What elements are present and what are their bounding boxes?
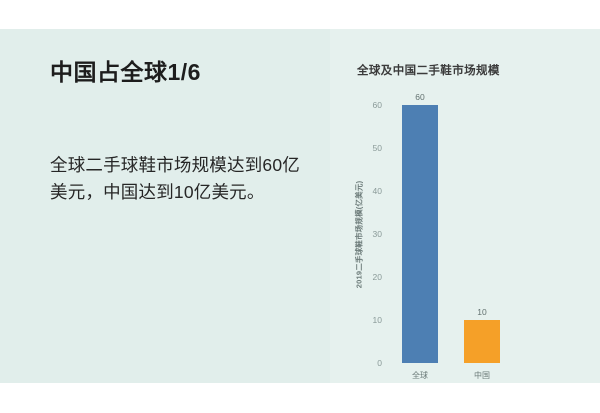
bar-value-global: 60	[415, 92, 424, 102]
y-axis-title: 2019二手球鞋市场规模(亿美元)	[352, 105, 366, 363]
y-tick-20: 20	[373, 272, 382, 282]
y-tick-40: 40	[373, 186, 382, 196]
x-tick-china: 中国	[474, 370, 490, 381]
chart-panel: 全球及中国二手鞋市场规模 2019二手球鞋市场规模(亿美元) 0 10 20 3…	[330, 29, 600, 383]
y-tick-10: 10	[373, 315, 382, 325]
bar-china[interactable]: 10 中国	[464, 320, 500, 363]
plot-area: 0 10 20 30 40 50 60 60 全球 10 中国	[388, 105, 528, 363]
body-paragraph: 全球二手球鞋市场规模达到60亿美元，中国达到10亿美元。	[50, 152, 300, 206]
y-tick-60: 60	[373, 100, 382, 110]
bar-value-china: 10	[477, 307, 486, 317]
y-tick-50: 50	[373, 143, 382, 153]
y-tick-30: 30	[373, 229, 382, 239]
slide-canvas: 中国占全球1/6 全球二手球鞋市场规模达到60亿美元，中国达到10亿美元。 全球…	[0, 29, 600, 383]
y-tick-0: 0	[377, 358, 382, 368]
page-title: 中国占全球1/6	[50, 59, 320, 87]
y-axis-title-label: 2019二手球鞋市场规模(亿美元)	[354, 180, 365, 288]
chart-title: 全球及中国二手鞋市场规模	[357, 62, 500, 78]
text-column: 中国占全球1/6 全球二手球鞋市场规模达到60亿美元，中国达到10亿美元。	[50, 59, 320, 87]
x-tick-global: 全球	[412, 370, 428, 381]
bar-global[interactable]: 60 全球	[402, 105, 438, 363]
